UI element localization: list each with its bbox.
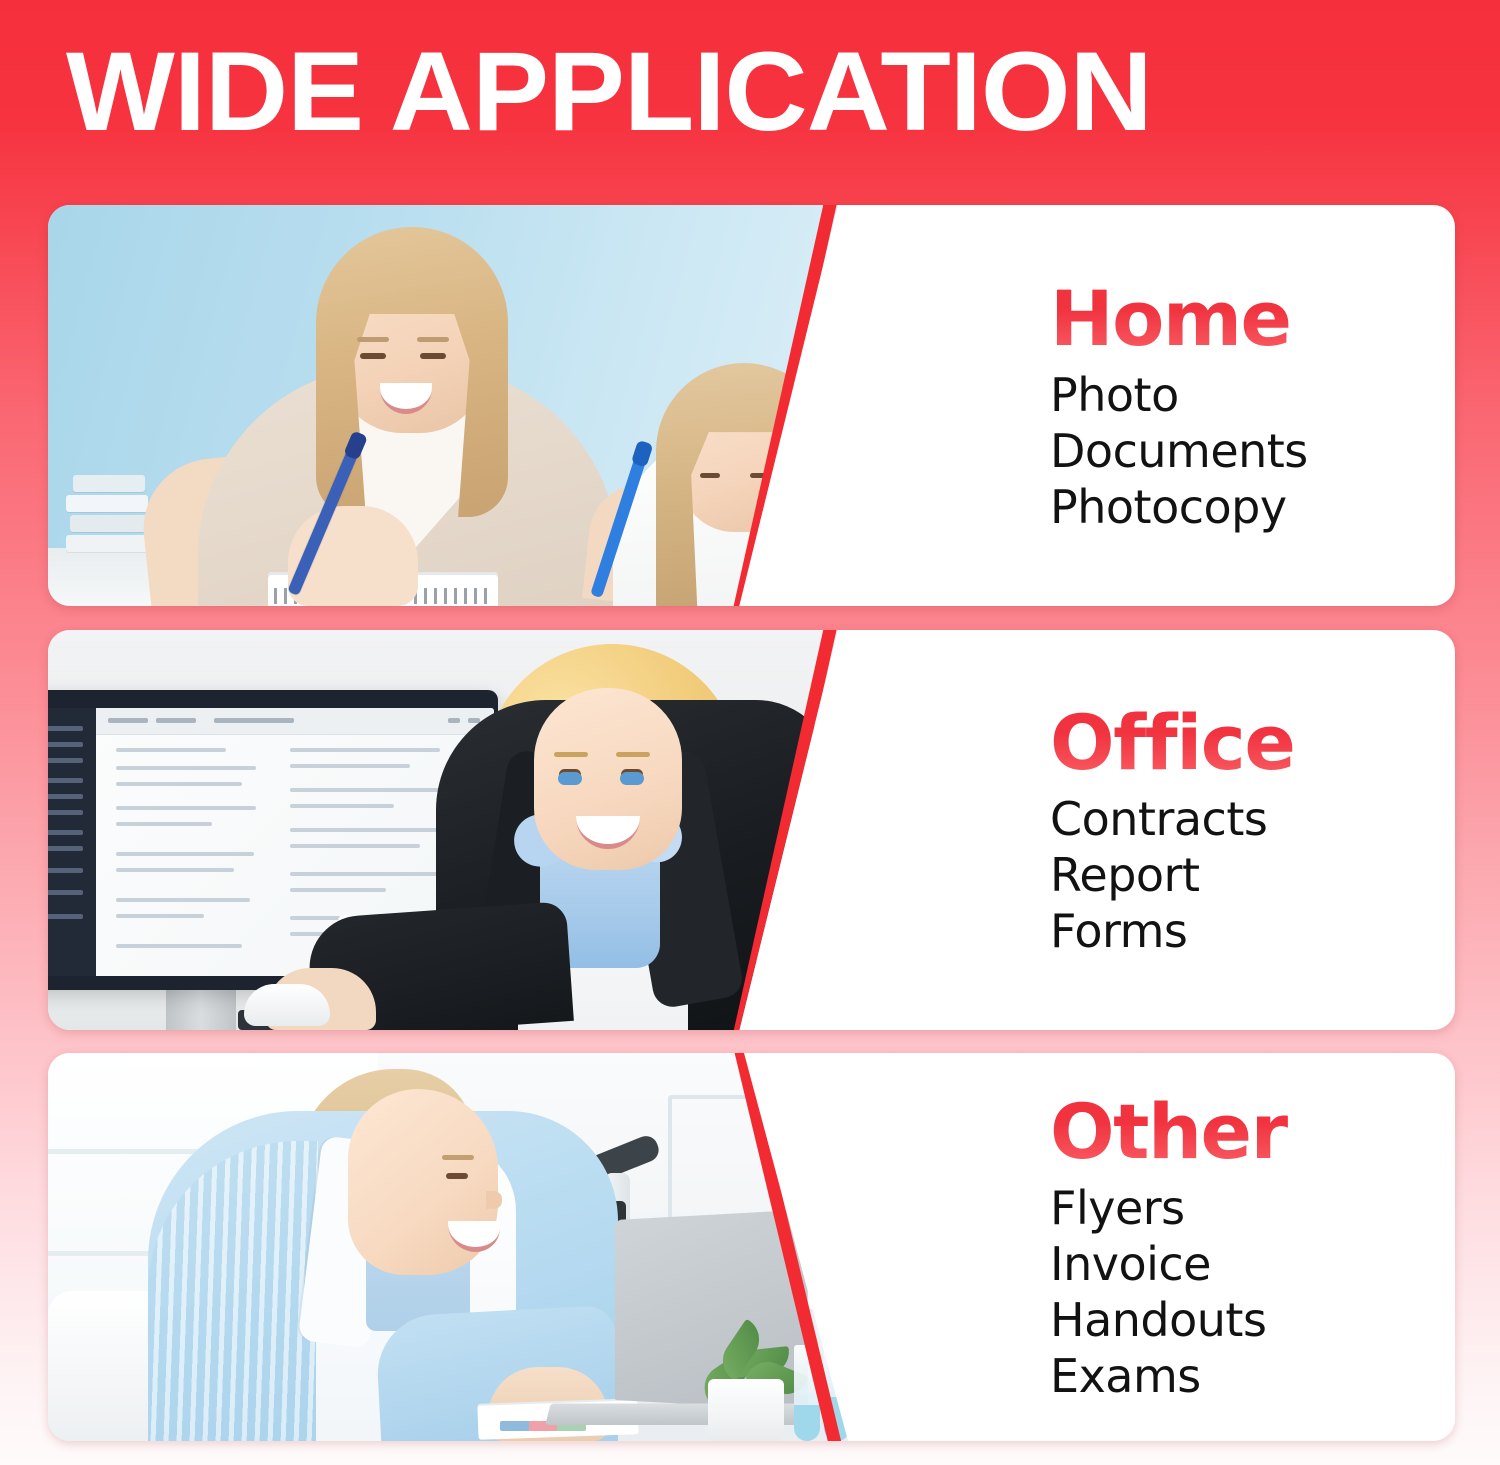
- woman-eye-right: [620, 772, 644, 785]
- photo-scene-office-worker: [48, 630, 838, 1030]
- card-photo-home: [48, 205, 838, 606]
- card-heading-office: Office: [1050, 701, 1455, 785]
- card-text-panel-home: Home Photo Documents Photocopy: [895, 205, 1455, 606]
- woman-eyebrow-right: [616, 752, 650, 757]
- card-list-home: Photo Documents Photocopy: [1050, 367, 1455, 535]
- adult-eyebrow-left: [357, 337, 389, 342]
- lab-woman-eyebrow: [442, 1155, 474, 1160]
- card-heading-other: Other: [1050, 1090, 1455, 1174]
- screen-toolbar: [96, 708, 494, 735]
- list-item: Photocopy: [1050, 479, 1455, 535]
- adult-eyebrow-right: [417, 337, 449, 342]
- adult-eye-left: [360, 353, 386, 359]
- poster-header: WIDE APPLICATION: [0, 0, 1500, 190]
- list-item: Forms: [1050, 903, 1455, 959]
- screen-sidebar: [48, 708, 96, 976]
- list-item: Handouts: [1050, 1292, 1455, 1348]
- book-stack: [66, 442, 152, 552]
- list-item: Report: [1050, 847, 1455, 903]
- list-item: Contracts: [1050, 791, 1455, 847]
- card-text-panel-office: Office Contracts Report Forms: [895, 630, 1455, 1030]
- lab-woman-nose: [486, 1191, 502, 1209]
- plant-pot: [708, 1379, 784, 1441]
- woman-eye-left: [558, 772, 582, 785]
- list-item: Flyers: [1050, 1180, 1455, 1236]
- card-photo-other: [48, 1053, 848, 1441]
- list-item: Photo: [1050, 367, 1455, 423]
- computer-mouse: [244, 984, 330, 1026]
- card-heading-home: Home: [1050, 277, 1455, 361]
- list-item: Invoice: [1050, 1236, 1455, 1292]
- card-list-other: Flyers Invoice Handouts Exams: [1050, 1180, 1455, 1404]
- photo-scene-home-tutoring: [48, 205, 838, 606]
- wide-application-poster: WIDE APPLICATION: [0, 0, 1500, 1465]
- list-item: Exams: [1050, 1348, 1455, 1404]
- card-photo-office: [48, 630, 838, 1030]
- photo-scene-lab-worker: [48, 1053, 848, 1441]
- screen-content-column-left: [116, 748, 266, 963]
- card-text-panel-other: Other Flyers Invoice Handouts Exams: [895, 1053, 1455, 1441]
- monitor-stand: [166, 988, 236, 1030]
- woman-eyebrow-left: [554, 752, 588, 757]
- list-item: Documents: [1050, 423, 1455, 479]
- page-title: WIDE APPLICATION: [66, 36, 1152, 148]
- child-eye-left: [700, 473, 720, 478]
- application-card-home: Home Photo Documents Photocopy: [48, 205, 1455, 606]
- application-card-other: Other Flyers Invoice Handouts Exams: [48, 1053, 1455, 1441]
- adult-eye-right: [420, 353, 446, 359]
- application-card-office: Office Contracts Report Forms: [48, 630, 1455, 1030]
- lab-woman-eye: [446, 1173, 468, 1179]
- card-list-office: Contracts Report Forms: [1050, 791, 1455, 959]
